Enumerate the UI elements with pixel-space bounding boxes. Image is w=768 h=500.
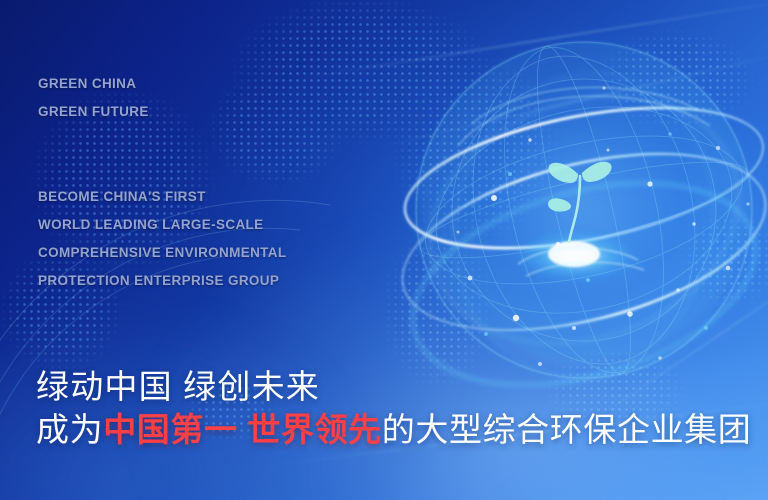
headline-zh-suffix: 的大型综合环保企业集团 (382, 411, 752, 448)
headline-zh: 绿动中国 绿创未来 成为中国第一 世界领先的大型综合环保企业集团 (36, 366, 756, 452)
slogan-en-top-line-1: GREEN CHINA (38, 70, 149, 98)
slogan-en-mid-line-2: WORLD LEADING LARGE-SCALE (38, 211, 286, 239)
slogan-en-mid-line-3: COMPREHENSIVE ENVIRONMENTAL (38, 239, 286, 267)
headline-zh-line-2: 成为中国第一 世界领先的大型综合环保企业集团 (36, 408, 756, 452)
slogan-en-top: GREEN CHINA GREEN FUTURE (38, 70, 149, 126)
slogan-en-mid-line-4: PROTECTION ENTERPRISE GROUP (38, 267, 286, 295)
headline-zh-prefix: 成为 (36, 411, 103, 448)
hero-banner: GREEN CHINA GREEN FUTURE BECOME CHINA'S … (0, 0, 768, 500)
headline-zh-highlight: 中国第一 世界领先 (103, 411, 382, 448)
slogan-en-mid: BECOME CHINA'S FIRST WORLD LEADING LARGE… (38, 183, 286, 295)
slogan-en-top-line-2: GREEN FUTURE (38, 98, 149, 126)
headline-zh-line-1: 绿动中国 绿创未来 (36, 366, 756, 408)
slogan-en-mid-line-1: BECOME CHINA'S FIRST (38, 183, 286, 211)
wireframe-globe (398, 28, 768, 406)
